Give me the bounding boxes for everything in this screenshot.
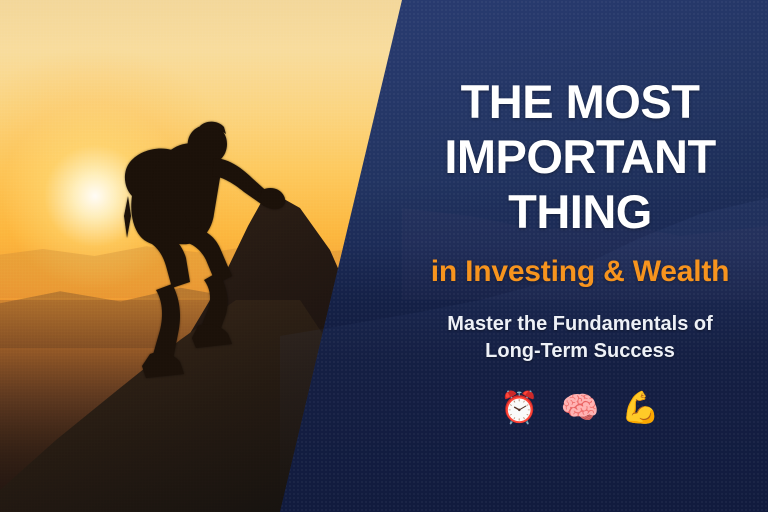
headline-line-2: IMPORTANT: [444, 129, 715, 184]
accent-subheading: in Investing & Wealth: [431, 255, 730, 289]
text-content: THE MOST IMPORTANT THING in Investing & …: [392, 0, 768, 512]
headline-line-1: THE MOST: [444, 74, 715, 129]
alarm-clock-icon: ⏰: [500, 393, 539, 424]
subtitle-line-2: Long-Term Success: [447, 338, 713, 365]
promo-banner: THE MOST IMPORTANT THING in Investing & …: [0, 0, 768, 512]
emoji-row: ⏰ 🧠 💪: [500, 393, 660, 424]
brain-icon: 🧠: [561, 393, 600, 424]
subtitle-line-1: Master the Fundamentals of: [447, 311, 713, 338]
headline-line-3: THING: [444, 184, 715, 239]
page-title: THE MOST IMPORTANT THING: [444, 74, 715, 239]
subtitle: Master the Fundamentals of Long-Term Suc…: [447, 311, 713, 365]
flexed-biceps-icon: 💪: [621, 393, 660, 424]
